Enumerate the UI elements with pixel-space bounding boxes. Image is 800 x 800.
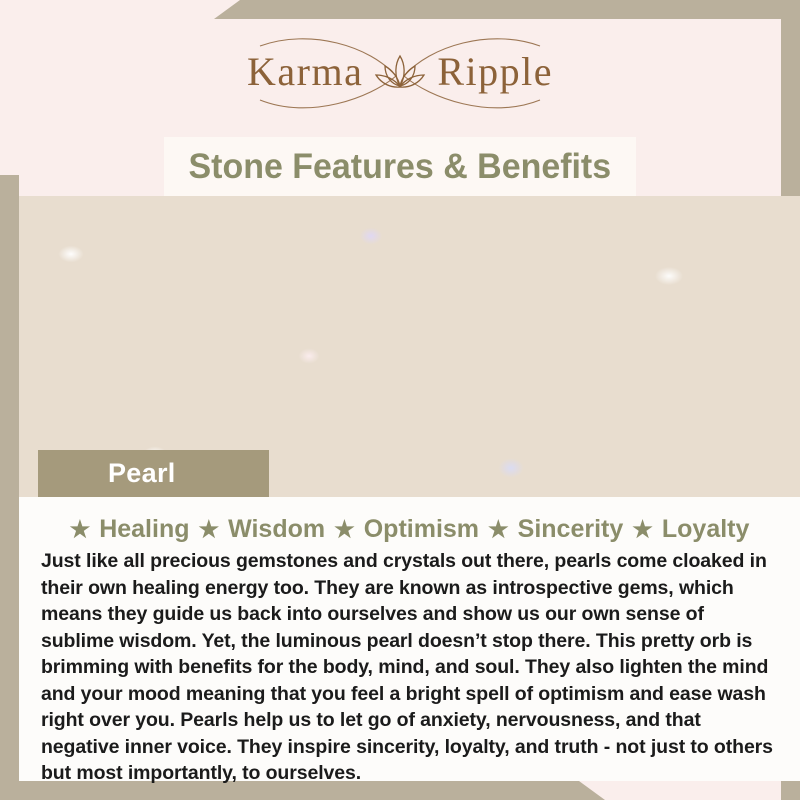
star-icon: ★	[334, 518, 355, 541]
keyword-optimism: Optimism	[364, 515, 479, 544]
star-icon: ★	[70, 518, 91, 541]
corner-accent-top-right	[214, 0, 800, 19]
brand-word-left: Karma	[247, 52, 363, 92]
stone-name-badge: Pearl	[38, 450, 269, 497]
keyword-sincerity: Sincerity	[518, 515, 624, 544]
page-title: Stone Features & Benefits	[189, 147, 612, 187]
lotus-icon	[373, 50, 427, 94]
keyword-loyalty: Loyalty	[662, 515, 750, 544]
stone-photo: Pearl	[19, 196, 800, 497]
content-panel: ★ Healing ★ Wisdom ★ Optimism ★ Sincerit…	[19, 497, 800, 781]
brand-word-right: Ripple	[437, 52, 553, 92]
stone-name-label: Pearl	[108, 458, 176, 489]
stone-description: Just like all precious gemstones and cry…	[41, 548, 778, 787]
stone-info-card: Karma Ripple Stone Features & Benefits P…	[0, 0, 800, 800]
keyword-healing: Healing	[99, 515, 189, 544]
keyword-list: ★ Healing ★ Wisdom ★ Optimism ★ Sincerit…	[19, 497, 800, 544]
keyword-wisdom: Wisdom	[228, 515, 325, 544]
star-icon: ★	[198, 518, 219, 541]
border-accent-left	[0, 175, 19, 800]
brand-logo: Karma Ripple	[0, 34, 800, 110]
star-icon: ★	[488, 518, 509, 541]
section-title-banner: Stone Features & Benefits	[164, 137, 636, 196]
star-icon: ★	[632, 518, 653, 541]
